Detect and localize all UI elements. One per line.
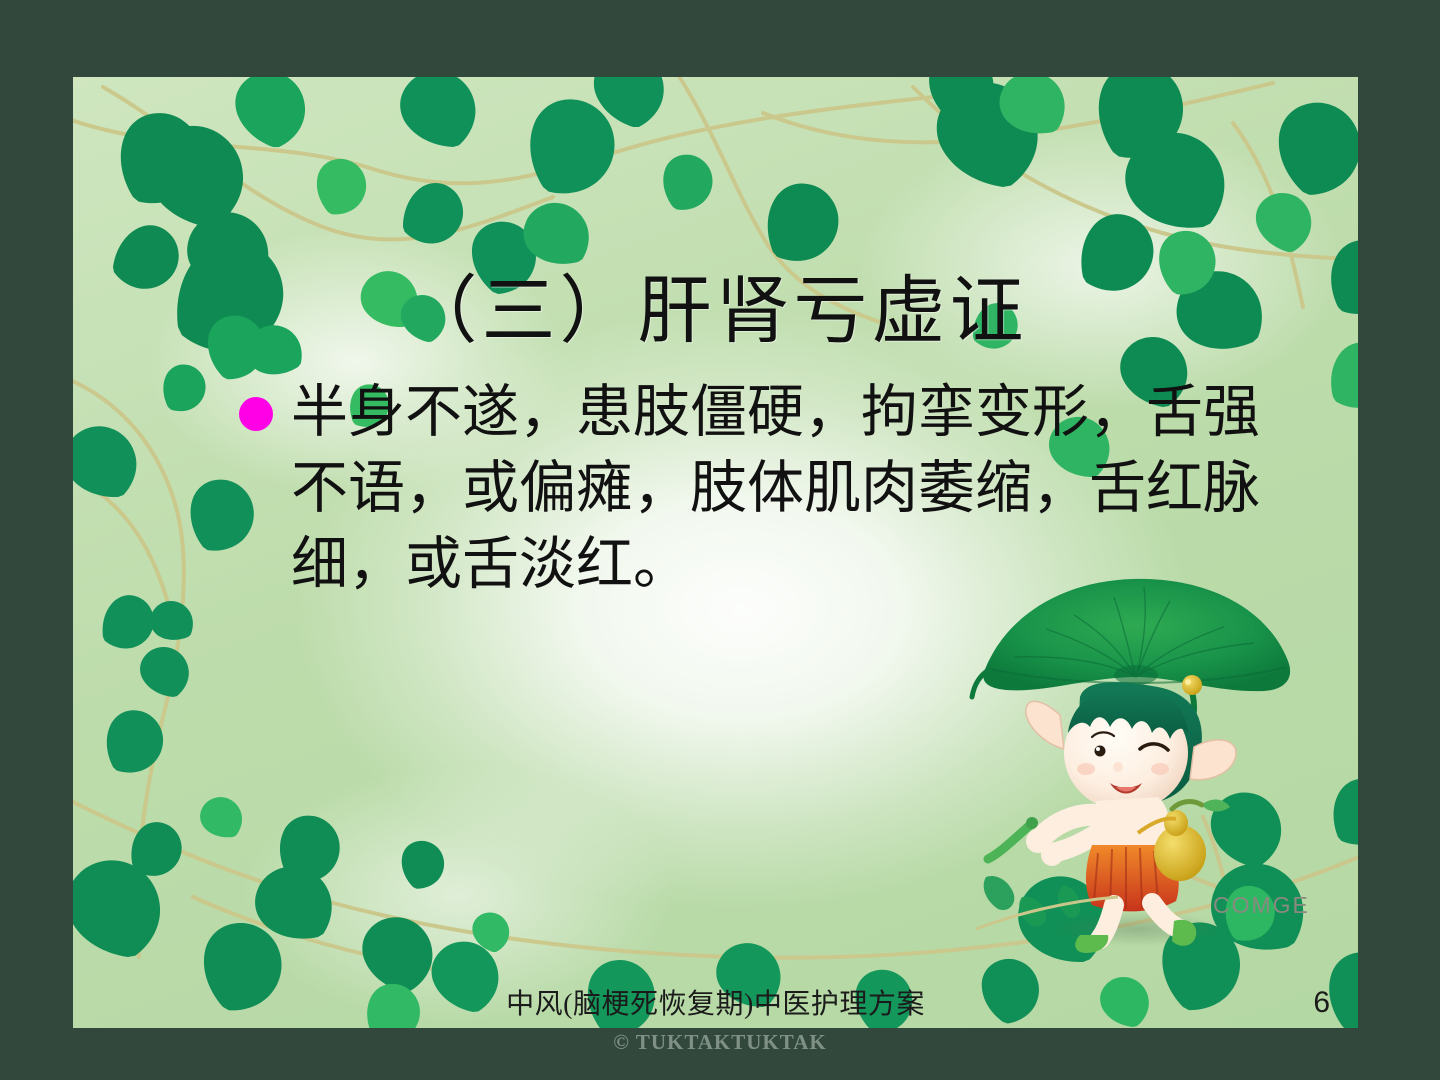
body-content-block: 半身不遂，患肢僵硬，拘挛变形，舌强不语，或偏瘫，肢体肌肉萎缩，舌红脉细，或舌淡红… bbox=[165, 375, 1275, 603]
watermark-text: © TUKTAKTUKTAK bbox=[0, 1030, 1440, 1055]
bullet-marker-icon bbox=[239, 397, 273, 431]
leaf-cluster-top-left-mid bbox=[151, 77, 312, 421]
mascot-signature: COMGE bbox=[1213, 892, 1310, 919]
bullet-row: 半身不遂，患肢僵硬，拘挛变形，舌强不语，或偏瘫，肢体肌肉萎缩，舌红脉细，或舌淡红… bbox=[165, 375, 1275, 603]
slide-frame: COMGE （三）肝肾亏虚证 半身不遂，患肢僵硬，拘挛变形，舌强不语，或偏瘫，肢… bbox=[0, 0, 1440, 1080]
slide-canvas: COMGE （三）肝肾亏虚证 半身不遂，患肢僵硬，拘挛变形，舌强不语，或偏瘫，肢… bbox=[73, 77, 1358, 1028]
footer-title: 中风(脑梗死恢复期)中医护理方案 bbox=[73, 982, 1358, 1022]
page-number: 6 bbox=[1313, 986, 1330, 1020]
leaf-cluster-top-center bbox=[389, 77, 670, 300]
slide-title: （三）肝肾亏虚证 bbox=[73, 273, 1358, 353]
leaf-cluster-top-right bbox=[747, 77, 1358, 417]
body-paragraph: 半身不遂，患肢僵硬，拘挛变形，舌强不语，或偏瘫，肢体肌肉萎缩，舌红脉细，或舌淡红… bbox=[165, 375, 1275, 603]
